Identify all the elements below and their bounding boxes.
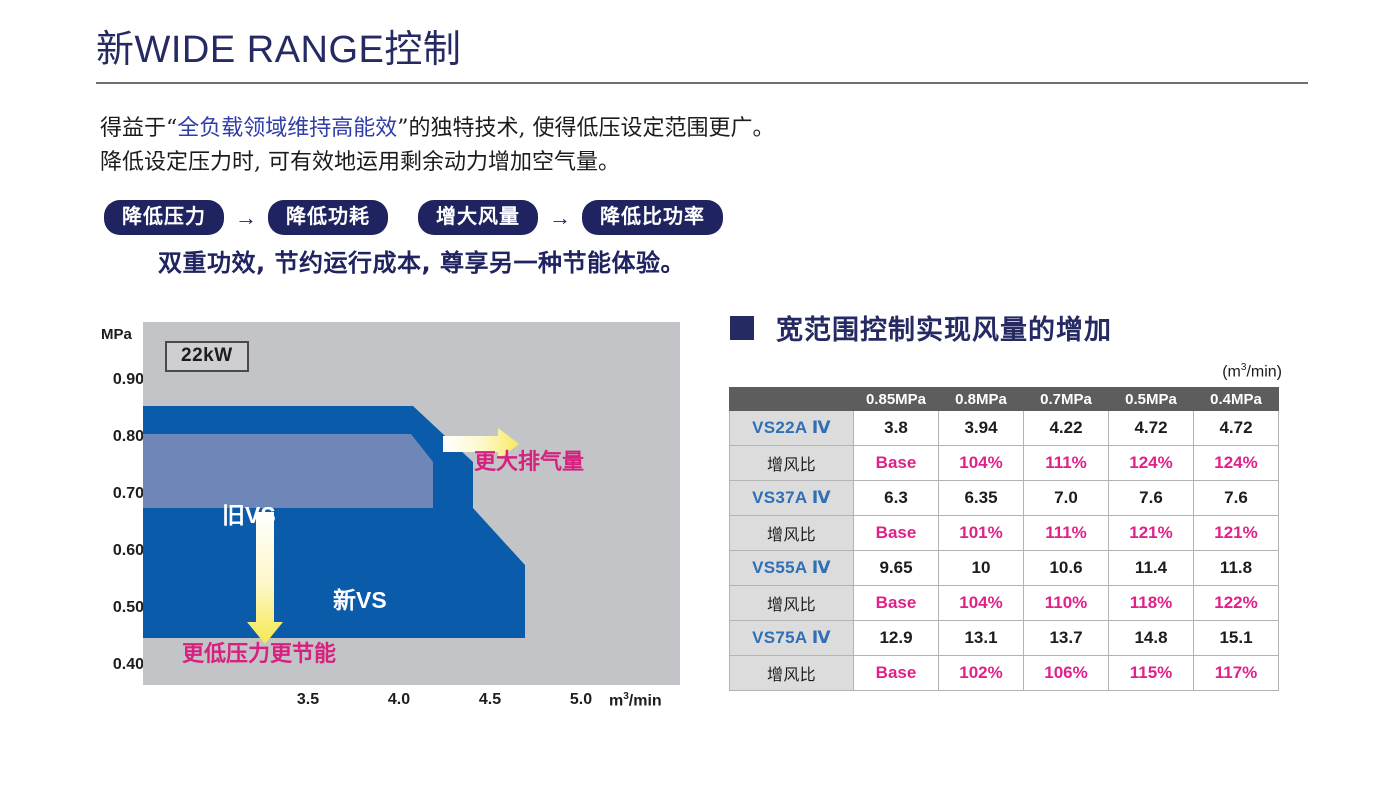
cell: 14.8 bbox=[1109, 621, 1194, 656]
row-label-vs75a: VS75A Ⅳ bbox=[730, 621, 854, 656]
cell: 10 bbox=[939, 551, 1024, 586]
y-tick-040: 0.40 bbox=[96, 656, 144, 674]
table-row: 增风比 Base 104% 110% 118% 122% bbox=[730, 586, 1279, 621]
slide-page: 新WIDE RANGE控制 得益于“全负载领域维持高能效”的独特技术, 使得低压… bbox=[0, 0, 1400, 786]
cell: 4.72 bbox=[1109, 411, 1194, 446]
cell: 121% bbox=[1109, 516, 1194, 551]
table-header-row: 0.85MPa 0.8MPa 0.7MPa 0.5MPa 0.4MPa bbox=[730, 388, 1279, 411]
row-label-ratio: 增风比 bbox=[730, 446, 854, 481]
table-unit-note: (m3/min) bbox=[1222, 362, 1282, 381]
x-tick-4-5: 4.5 bbox=[470, 691, 510, 709]
pill-lower-pressure[interactable]: 降低压力 bbox=[104, 200, 224, 235]
cell: 124% bbox=[1109, 446, 1194, 481]
cell: Base bbox=[854, 446, 939, 481]
row-label-vs22a: VS22A Ⅳ bbox=[730, 411, 854, 446]
table-row: VS55A Ⅳ 9.65 10 10.6 11.4 11.8 bbox=[730, 551, 1279, 586]
table-row: VS22A Ⅳ 3.8 3.94 4.22 4.72 4.72 bbox=[730, 411, 1279, 446]
airflow-table: 0.85MPa 0.8MPa 0.7MPa 0.5MPa 0.4MPa VS22… bbox=[729, 387, 1279, 691]
cell: 4.72 bbox=[1194, 411, 1279, 446]
cell: 9.65 bbox=[854, 551, 939, 586]
intro-paragraph: 得益于“全负载领域维持高能效”的独特技术, 使得低压设定范围更广。 降低设定压力… bbox=[100, 112, 1000, 180]
chart-label-new-vs: 新VS bbox=[333, 581, 387, 615]
row-label-ratio: 增风比 bbox=[730, 586, 854, 621]
cell: 13.7 bbox=[1024, 621, 1109, 656]
unit-note-post: /min) bbox=[1246, 363, 1282, 380]
y-tick-060: 0.60 bbox=[96, 542, 144, 560]
table-row: VS75A Ⅳ 12.9 13.1 13.7 14.8 15.1 bbox=[730, 621, 1279, 656]
cell: 122% bbox=[1194, 586, 1279, 621]
x-tick-3-5: 3.5 bbox=[288, 691, 328, 709]
pill-lower-power[interactable]: 降低功耗 bbox=[268, 200, 388, 235]
y-tick-080: 0.80 bbox=[96, 428, 144, 446]
cell: 15.1 bbox=[1194, 621, 1279, 656]
page-title: 新WIDE RANGE控制 bbox=[96, 18, 461, 73]
cell: 121% bbox=[1194, 516, 1279, 551]
chart-label-old-vs: 旧VS bbox=[222, 496, 276, 530]
chart-annotation-lower-pressure: 更低压力更节能 bbox=[182, 636, 336, 668]
cell: Base bbox=[854, 656, 939, 691]
cell: 13.1 bbox=[939, 621, 1024, 656]
cell: Base bbox=[854, 586, 939, 621]
square-bullet-icon bbox=[730, 316, 754, 340]
cell: 3.8 bbox=[854, 411, 939, 446]
section-heading-text: 宽范围控制实现风量的增加 bbox=[776, 308, 1112, 347]
benefit-pill-row: 降低压力 → 降低功耗 增大风量 → 降低比功率 bbox=[104, 200, 723, 235]
table-row: VS37A Ⅳ 6.3 6.35 7.0 7.6 7.6 bbox=[730, 481, 1279, 516]
row-label-vs37a: VS37A Ⅳ bbox=[730, 481, 854, 516]
row-label-ratio: 增风比 bbox=[730, 516, 854, 551]
cell: 7.6 bbox=[1194, 481, 1279, 516]
table-col-05: 0.5MPa bbox=[1109, 388, 1194, 411]
intro-line-2: 降低设定压力时, 可有效地运用剩余动力增加空气量。 bbox=[100, 146, 1000, 180]
cell: 7.6 bbox=[1109, 481, 1194, 516]
table-col-085: 0.85MPa bbox=[854, 388, 939, 411]
cell: 101% bbox=[939, 516, 1024, 551]
intro-line-1: 得益于“全负载领域维持高能效”的独特技术, 使得低压设定范围更广。 bbox=[100, 112, 1000, 146]
table-row: 增风比 Base 102% 106% 115% 117% bbox=[730, 656, 1279, 691]
cell: 7.0 bbox=[1024, 481, 1109, 516]
title-divider bbox=[96, 82, 1308, 84]
table-col-04: 0.4MPa bbox=[1194, 388, 1279, 411]
cell: 111% bbox=[1024, 446, 1109, 481]
cell: 118% bbox=[1109, 586, 1194, 621]
chart-annotation-more-air: 更大排气量 bbox=[474, 444, 584, 476]
row-label-ratio: 增风比 bbox=[730, 656, 854, 691]
cell: 10.6 bbox=[1024, 551, 1109, 586]
cell: Base bbox=[854, 516, 939, 551]
cell: 4.22 bbox=[1024, 411, 1109, 446]
cell: 117% bbox=[1194, 656, 1279, 691]
series-old-vs-area bbox=[143, 434, 433, 508]
pill-more-air[interactable]: 增大风量 bbox=[418, 200, 538, 235]
section-heading: 宽范围控制实现风量的增加 bbox=[730, 308, 1112, 347]
arrow-icon-2: → bbox=[538, 205, 582, 231]
cell: 11.8 bbox=[1194, 551, 1279, 586]
unit-note-pre: (m bbox=[1222, 363, 1241, 380]
table-body: VS22A Ⅳ 3.8 3.94 4.22 4.72 4.72 增风比 Base… bbox=[730, 411, 1279, 691]
pill-subline: 双重功效, 节约运行成本, 尊享另一种节能体验。 bbox=[158, 243, 685, 278]
arrow-icon-1: → bbox=[224, 205, 268, 231]
cell: 6.35 bbox=[939, 481, 1024, 516]
row-label-vs55a: VS55A Ⅳ bbox=[730, 551, 854, 586]
table-row: 增风比 Base 101% 111% 121% 121% bbox=[730, 516, 1279, 551]
intro-highlight: 全负载领域维持高能效 bbox=[177, 116, 397, 141]
chart-power-badge: 22kW bbox=[165, 341, 249, 372]
cell: 104% bbox=[939, 586, 1024, 621]
x-tick-4-0: 4.0 bbox=[379, 691, 419, 709]
table-corner-cell bbox=[730, 388, 854, 411]
table-col-07: 0.7MPa bbox=[1024, 388, 1109, 411]
cell: 12.9 bbox=[854, 621, 939, 656]
x-tick-5-0: 5.0 bbox=[561, 691, 601, 709]
cell: 115% bbox=[1109, 656, 1194, 691]
y-tick-090: 0.90 bbox=[96, 371, 144, 389]
intro-line-1-pre: 得益于“ bbox=[100, 116, 177, 141]
pill-lower-specific-power[interactable]: 降低比功率 bbox=[582, 200, 723, 235]
y-tick-070: 0.70 bbox=[96, 485, 144, 503]
table-col-08: 0.8MPa bbox=[939, 388, 1024, 411]
intro-line-1-post: ”的独特技术, 使得低压设定范围更广。 bbox=[397, 116, 774, 141]
y-tick-050: 0.50 bbox=[96, 599, 144, 617]
chart-y-unit: MPa bbox=[101, 326, 132, 343]
cell: 104% bbox=[939, 446, 1024, 481]
cell: 3.94 bbox=[939, 411, 1024, 446]
cell: 102% bbox=[939, 656, 1024, 691]
cell: 11.4 bbox=[1109, 551, 1194, 586]
cell: 106% bbox=[1024, 656, 1109, 691]
cell: 6.3 bbox=[854, 481, 939, 516]
cell: 111% bbox=[1024, 516, 1109, 551]
x-axis-unit: m3/min bbox=[609, 691, 689, 710]
cell: 110% bbox=[1024, 586, 1109, 621]
cell: 124% bbox=[1194, 446, 1279, 481]
table-row: 增风比 Base 104% 111% 124% 124% bbox=[730, 446, 1279, 481]
